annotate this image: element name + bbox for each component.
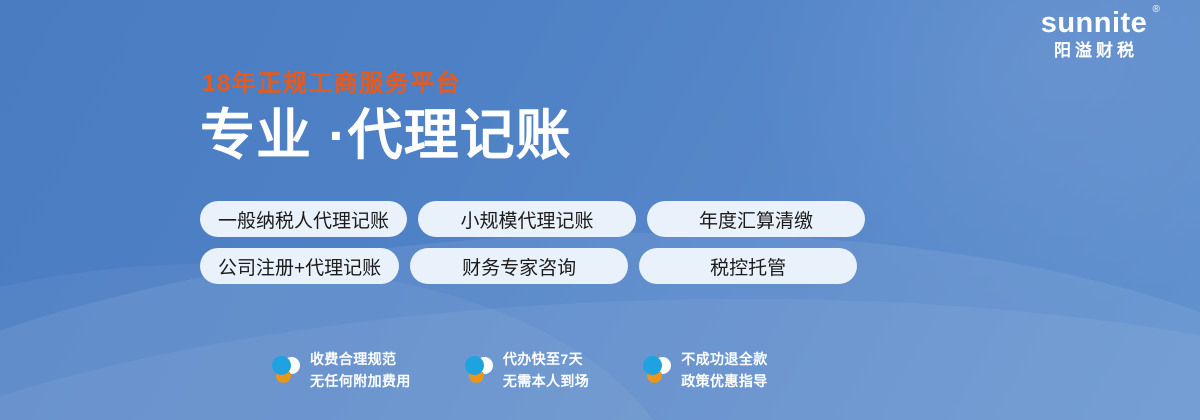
hero-heading-block: 18年正规工商服务平台 专业 ·代理记账 [200,72,572,165]
feature-text: 代办快至7天 无需本人到场 [503,349,589,392]
feature-text: 收费合理规范 无任何附加费用 [310,349,411,392]
blue-orange-circle-icon [270,354,300,388]
blue-circle-shape [272,356,291,375]
feature-line-1: 不成功退全款 [681,349,767,371]
service-pill[interactable]: 公司注册+代理记账 [200,248,399,284]
feature-text: 不成功退全款 政策优惠指导 [681,349,767,392]
service-pill[interactable]: 一般纳税人代理记账 [200,201,407,237]
feature-line-1: 代办快至7天 [503,349,589,371]
hero-title: 专业 ·代理记账 [200,106,572,165]
hero-eyebrow: 18年正规工商服务平台 [202,72,572,96]
logo-chinese-name: 阳溢财税 [1010,39,1178,63]
service-pill[interactable]: 财务专家咨询 [410,248,628,284]
blue-orange-circle-icon [463,354,493,388]
blue-circle-shape [465,356,484,375]
background-wave-secondary [0,274,1200,420]
service-pill-grid: 一般纳税人代理记账 小规模代理记账 年度汇算清缴 公司注册+代理记账 财务专家咨… [200,201,865,295]
feature-item: 代办快至7天 无需本人到场 [463,349,589,392]
service-pill[interactable]: 小规模代理记账 [418,201,636,237]
registered-trademark-icon: ® [1152,5,1160,15]
feature-item: 收费合理规范 无任何附加费用 [270,349,411,392]
feature-line-1: 收费合理规范 [310,349,411,371]
feature-line-2: 无任何附加费用 [310,371,411,393]
service-pill[interactable]: 税控托管 [639,248,857,284]
service-pill-row-2: 公司注册+代理记账 财务专家咨询 税控托管 [200,248,865,284]
service-pill-row-1: 一般纳税人代理记账 小规模代理记账 年度汇算清缴 [200,201,865,237]
brand-logo[interactable]: sunnite® 阳溢财税 [1010,8,1178,63]
service-pill[interactable]: 年度汇算清缴 [647,201,865,237]
blue-circle-shape [643,356,662,375]
feature-line-2: 无需本人到场 [503,371,589,393]
blue-orange-circle-icon [641,354,671,388]
promo-banner: sunnite® 阳溢财税 18年正规工商服务平台 专业 ·代理记账 一般纳税人… [0,0,1200,420]
feature-list: 收费合理规范 无任何附加费用 代办快至7天 无需本人到场 不成功退全款 [270,349,768,392]
logo-wordmark: sunnite® [1041,8,1148,38]
feature-item: 不成功退全款 政策优惠指导 [641,349,767,392]
feature-line-2: 政策优惠指导 [681,371,767,393]
logo-wordmark-text: sunnite [1041,7,1148,39]
